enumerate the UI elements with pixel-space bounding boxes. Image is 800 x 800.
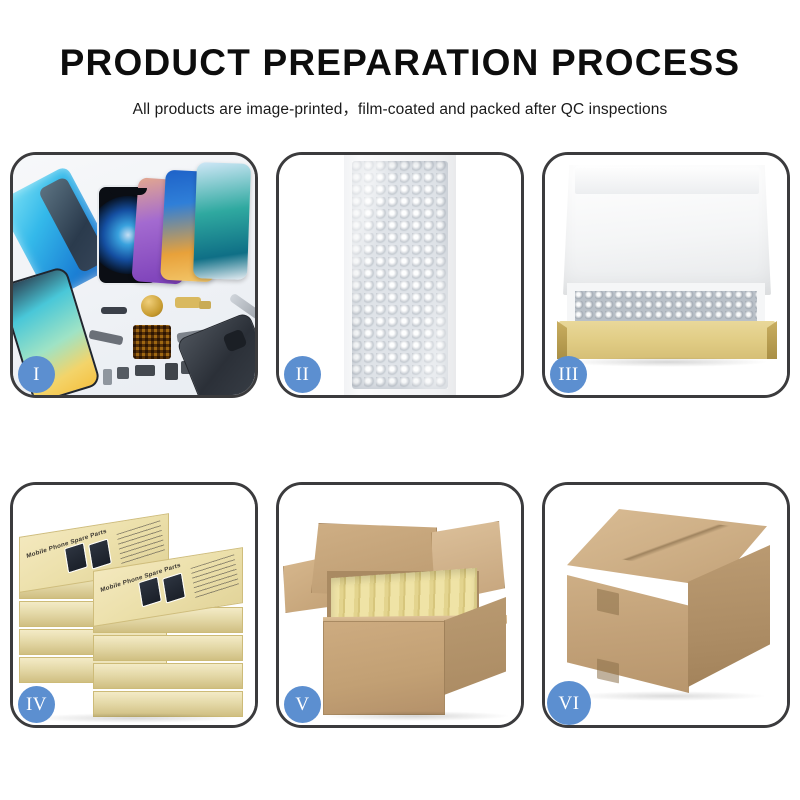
bubble-wrap-icon — [352, 161, 448, 389]
step-badge-6: VI — [547, 681, 591, 725]
page-subtitle: All products are image-printed，film-coat… — [0, 97, 800, 119]
component-bar-icon — [101, 307, 127, 314]
component-speaker-icon — [141, 295, 163, 317]
box-screen-image-4 — [162, 572, 186, 603]
component-chip-grid-icon — [133, 325, 171, 359]
box-stack: Mobile Phone Spare Parts Mobile Phone Sp… — [17, 503, 253, 717]
box-screen-image-1 — [64, 542, 88, 573]
packing-tape-lower — [597, 658, 619, 683]
component-module-icon — [135, 365, 155, 376]
step-panel-6: VI — [542, 482, 790, 728]
phone-screen-teal-icon — [193, 162, 251, 280]
sealed-carton-shadow — [571, 691, 767, 701]
process-steps-grid: I II III — [10, 152, 790, 728]
component-flex-cable-icon — [175, 297, 201, 308]
step-badge-2: II — [284, 356, 321, 393]
stacked-boxes-image: Mobile Phone Spare Parts Mobile Phone Sp… — [13, 485, 255, 725]
page-title: PRODUCT PREPARATION PROCESS — [0, 44, 800, 81]
step-panel-2: II — [276, 152, 524, 398]
step-badge-1: I — [18, 356, 55, 393]
box-side-6 — [93, 635, 243, 661]
bubble-wrapped-items-icon — [575, 291, 757, 323]
step-badge-4: IV — [18, 686, 55, 723]
phone-parts-image — [13, 155, 255, 395]
step-panel-4: Mobile Phone Spare Parts Mobile Phone Sp… — [10, 482, 258, 728]
open-carton-image — [279, 485, 521, 725]
stack-shadow — [29, 713, 237, 723]
component-camera-icon — [117, 367, 129, 379]
component-connector-icon — [199, 301, 211, 309]
bubble-wrap-image — [279, 155, 521, 395]
step-panel-1: I — [10, 152, 258, 398]
kraft-tray-icon — [559, 321, 775, 359]
step-badge-3: III — [550, 356, 587, 393]
sealed-carton-front-face — [567, 575, 689, 693]
box-spec-lines-2 — [191, 554, 240, 601]
inner-box-image — [545, 155, 787, 395]
component-sim-tray-icon — [103, 369, 112, 385]
component-battery-icon — [165, 363, 178, 380]
carton-shadow — [321, 711, 511, 721]
product-preparation-infographic: PRODUCT PREPARATION PROCESS All products… — [0, 0, 800, 800]
header: PRODUCT PREPARATION PROCESS All products… — [0, 0, 800, 119]
step-panel-5: V — [276, 482, 524, 728]
box-side-7 — [93, 663, 243, 689]
box-lid-icon — [563, 165, 771, 295]
step-badge-5: V — [284, 686, 321, 723]
phone-back-housing-icon — [176, 312, 255, 395]
box-shadow — [565, 357, 769, 367]
carton-front-face — [323, 621, 445, 715]
box-screen-image-3 — [138, 576, 162, 607]
step-panel-3: III — [542, 152, 790, 398]
box-screen-image-2 — [88, 538, 112, 569]
component-ribbon-cable-icon — [88, 330, 123, 346]
